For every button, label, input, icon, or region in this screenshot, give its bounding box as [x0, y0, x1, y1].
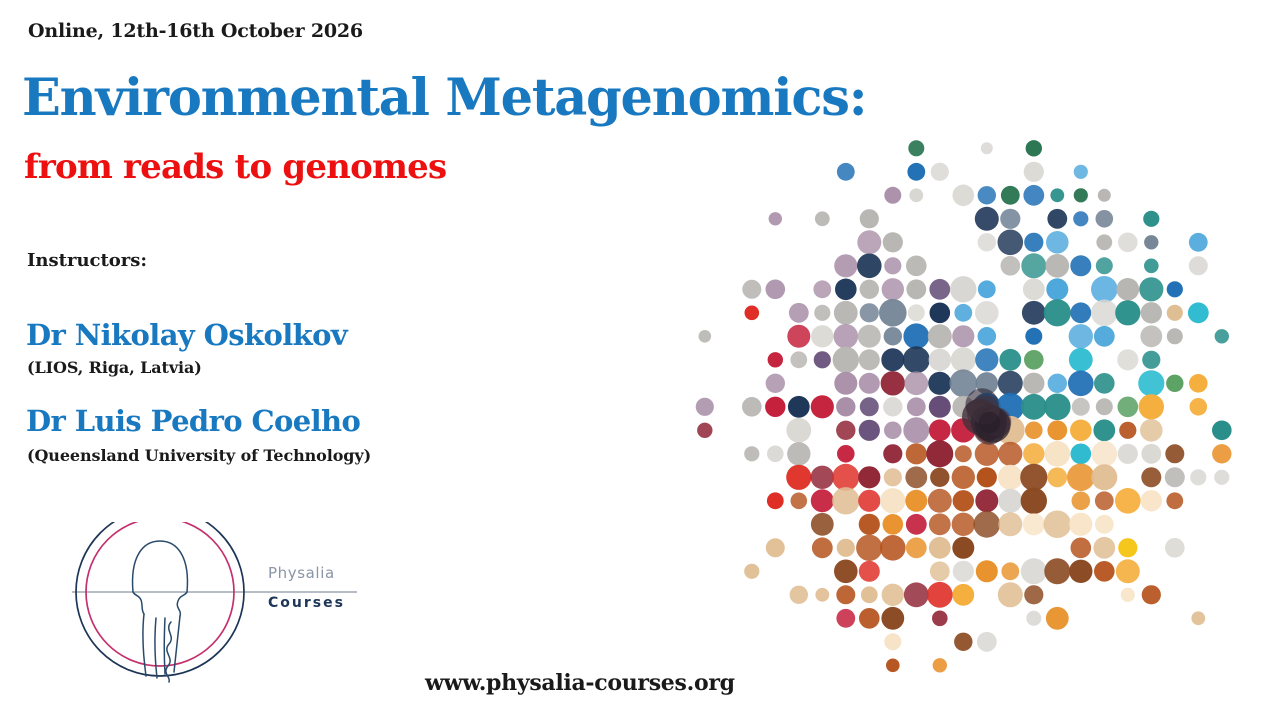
artwork-dot: [1212, 444, 1231, 463]
artwork-dot: [975, 301, 999, 325]
artwork-dot: [884, 422, 902, 440]
logo-outer-ring: [76, 522, 244, 676]
artwork-dot: [1117, 278, 1140, 301]
artwork-dot: [952, 584, 974, 606]
artwork-dot: [1096, 257, 1113, 274]
artwork-dot: [859, 608, 880, 629]
artwork-dot: [789, 303, 809, 323]
artwork-dot: [884, 633, 901, 650]
artwork-dot: [928, 372, 951, 395]
artwork-dot: [745, 306, 760, 321]
artwork-dot: [1070, 302, 1091, 323]
artwork-dot: [1024, 585, 1043, 604]
artwork-dot: [903, 417, 929, 443]
artwork-dot: [1000, 209, 1020, 229]
artwork-dot: [1044, 299, 1071, 326]
artwork-dot: [978, 186, 996, 204]
artwork-dot: [860, 303, 879, 322]
artwork-dot: [880, 488, 905, 513]
artwork-dot: [975, 348, 998, 371]
artwork-dot: [929, 513, 951, 535]
artwork-dot: [859, 420, 880, 441]
artwork-dot: [886, 659, 900, 673]
artwork-dot: [1069, 324, 1093, 348]
artwork-dot: [927, 582, 953, 608]
artwork-dot: [744, 446, 759, 461]
artwork-dot: [811, 395, 834, 418]
instructor-affiliation-2: (Queensland University of Technology): [27, 446, 371, 465]
artwork-dot: [1024, 162, 1044, 182]
course-date-line: Online, 12th-16th October 2026: [28, 20, 363, 42]
artwork-dot: [1166, 375, 1183, 392]
artwork-dot: [953, 490, 974, 511]
artwork-dot: [998, 442, 1022, 466]
artwork-dot: [1212, 421, 1232, 441]
artwork-dot: [837, 445, 855, 463]
artwork-dot: [811, 466, 834, 489]
artwork-dot: [769, 212, 782, 225]
artwork-dot: [1165, 444, 1184, 463]
artwork-dot: [932, 611, 948, 627]
artwork-dot: [790, 351, 807, 368]
artwork-dot: [786, 418, 811, 443]
artwork-dot: [1167, 281, 1183, 297]
artwork-dot: [832, 464, 859, 491]
artwork-dot: [906, 514, 927, 535]
instructor-name-1: Dr Nikolay Oskolkov: [26, 318, 347, 352]
artwork-dot: [975, 207, 999, 231]
logo-subbrand-text: Courses: [268, 595, 345, 611]
artwork-dot: [907, 163, 925, 181]
artwork-dot: [834, 324, 859, 349]
artwork-dot: [1023, 513, 1045, 535]
artwork-dot: [835, 279, 857, 301]
artwork-dot: [903, 346, 930, 373]
artwork-dot: [1141, 444, 1161, 464]
artwork-dot: [1118, 397, 1139, 418]
artwork-dot: [1188, 302, 1209, 323]
artwork-dot: [814, 305, 830, 321]
artwork-dot: [953, 561, 974, 582]
artwork-dot: [1048, 374, 1067, 393]
artwork-dot: [1025, 422, 1043, 440]
artwork-dot: [952, 466, 975, 489]
artwork-dot: [1068, 371, 1094, 397]
artwork-dot: [907, 397, 926, 416]
artwork-dot: [859, 561, 880, 582]
artwork-dot: [908, 304, 925, 321]
artwork-dot: [950, 276, 976, 302]
artwork-dot: [1020, 464, 1047, 491]
artwork-dot: [929, 279, 950, 300]
artwork-dot: [1021, 394, 1047, 420]
artwork-dot: [1165, 467, 1185, 487]
artwork-dot: [881, 371, 905, 395]
artwork-dot: [1021, 488, 1047, 514]
artwork-dot: [884, 257, 901, 274]
artwork-dot: [1095, 515, 1114, 534]
artwork-dot: [742, 397, 762, 417]
artwork-dot: [930, 303, 951, 324]
artwork-dot: [860, 280, 879, 299]
artwork-dot: [860, 209, 879, 228]
artwork-dot: [1044, 511, 1072, 539]
artwork-dot: [1190, 398, 1208, 416]
artwork-dot: [1119, 422, 1136, 439]
artwork-dot: [909, 188, 923, 202]
artwork-dot: [998, 582, 1023, 607]
artwork-dot: [787, 442, 810, 465]
artwork-dot: [1143, 211, 1159, 227]
artwork-dot: [834, 301, 858, 325]
artwork-dot: [742, 280, 761, 299]
artwork-dot: [1166, 492, 1183, 509]
poster-canvas: Online, 12th-16th October 2026 Environme…: [0, 0, 1280, 720]
artwork-dot: [1073, 211, 1088, 226]
artwork-dot: [981, 142, 993, 154]
artwork-dot: [813, 280, 831, 298]
artwork-dot: [1140, 325, 1162, 347]
artwork-dot: [856, 535, 882, 561]
artwork-dot: [951, 347, 976, 372]
artwork-dot: [1023, 373, 1044, 394]
artwork-dot: [1071, 538, 1092, 559]
artwork-dot: [1116, 559, 1140, 583]
artwork-dot: [955, 445, 972, 462]
artwork-dot: [1069, 513, 1092, 536]
artwork-dot: [1093, 537, 1115, 559]
artwork-core-dot: [979, 412, 1001, 434]
artwork-dot: [1190, 469, 1206, 485]
artwork-dot: [1142, 585, 1161, 604]
artwork-dot: [767, 446, 784, 463]
artwork-dot: [998, 489, 1022, 513]
artwork-dot: [1069, 348, 1093, 372]
artwork-dot: [1046, 231, 1069, 254]
artwork-dot: [788, 396, 810, 418]
artwork-dot: [1141, 490, 1162, 511]
artwork-dot: [1024, 233, 1043, 252]
artwork-dot: [815, 211, 830, 226]
artwork-dot: [836, 585, 855, 604]
artwork-dot: [814, 351, 831, 368]
artwork-dot: [883, 514, 904, 535]
artwork-dot: [834, 560, 858, 584]
artwork-dot: [1070, 255, 1091, 276]
artwork-dot: [905, 466, 927, 488]
artwork-dot: [1045, 441, 1071, 467]
artwork-dot: [1044, 394, 1071, 421]
artwork-dot: [787, 325, 810, 348]
artwork-dot: [908, 140, 924, 156]
artwork-dot: [1023, 185, 1044, 206]
artwork-dot: [1047, 467, 1067, 487]
artwork-dot: [790, 586, 808, 604]
artwork-dot: [1046, 278, 1068, 300]
logo-inner-ring: [86, 522, 234, 666]
artwork-dot: [1096, 234, 1112, 250]
artwork-dot: [832, 487, 859, 514]
artwork-dot: [836, 397, 855, 416]
artwork-dot: [952, 537, 974, 559]
artwork-dot: [1001, 186, 1020, 205]
artwork-dot: [1098, 189, 1111, 202]
artwork-dot: [978, 327, 997, 346]
artwork-dot: [1074, 188, 1088, 202]
artwork-dot: [1141, 302, 1162, 323]
artwork-dot: [857, 254, 882, 279]
artwork-dot: [933, 658, 947, 672]
artwork-dot: [926, 440, 953, 467]
artwork-dot: [836, 421, 855, 440]
artwork-dot: [699, 330, 712, 343]
artwork-dot: [1022, 301, 1046, 325]
artwork-dot: [1001, 562, 1019, 580]
artwork-dot: [977, 632, 997, 652]
artwork-dot: [1191, 611, 1205, 625]
artwork-dot: [1001, 256, 1021, 276]
artwork-dot: [696, 398, 714, 416]
artwork-dot: [768, 352, 783, 367]
artwork-dot: [811, 513, 834, 536]
artwork-dot: [1026, 140, 1042, 156]
artwork-dot: [904, 582, 929, 607]
artwork-dot: [1094, 326, 1115, 347]
artwork-dot: [929, 349, 951, 371]
artwork-dot: [861, 586, 878, 603]
artwork-dot: [834, 254, 857, 277]
artwork-dot: [1070, 420, 1092, 442]
artwork-dot: [882, 278, 904, 300]
artwork-dot: [1091, 441, 1117, 467]
artwork-dot: [1044, 558, 1070, 584]
artwork-dot: [697, 423, 712, 438]
artwork-dot: [791, 493, 808, 510]
artwork-dot: [929, 419, 951, 441]
artwork-dot: [973, 511, 1000, 538]
artwork-dot: [859, 514, 880, 535]
artwork-dot: [1023, 278, 1045, 300]
artwork-dot: [1046, 607, 1069, 630]
artwork-dot: [952, 513, 975, 536]
artwork-dot: [998, 230, 1024, 256]
artwork-dot: [906, 443, 927, 464]
artwork-dot: [744, 564, 759, 579]
artwork-dot: [954, 633, 972, 651]
artwork-dot: [1138, 370, 1164, 396]
artwork-dot: [1074, 165, 1088, 179]
artwork-dot: [1144, 235, 1158, 249]
artwork-dot: [1071, 444, 1092, 465]
artwork-dot: [860, 397, 879, 416]
artwork-dot: [906, 279, 926, 299]
artwork-dot: [929, 396, 951, 418]
artwork-dot: [833, 347, 859, 373]
artwork-dot: [1094, 373, 1115, 394]
artwork-dot: [1096, 398, 1113, 415]
artwork-dot: [883, 232, 903, 252]
artwork-dot: [1214, 470, 1229, 485]
artwork-dot: [1144, 259, 1159, 274]
artwork-dot: [928, 324, 952, 348]
artwork-dot: [1215, 329, 1229, 343]
artwork-dot: [881, 348, 904, 371]
artwork-dot: [837, 539, 855, 557]
artwork-dot: [815, 588, 829, 602]
artwork-dot: [976, 560, 998, 582]
artwork-dot: [906, 537, 927, 558]
artwork-dot: [930, 468, 949, 487]
artwork-dot: [767, 492, 784, 509]
artwork-dot: [978, 233, 996, 251]
artwork-dot: [977, 467, 997, 487]
artwork-dot: [1140, 419, 1163, 442]
artwork-dot: [765, 397, 785, 417]
instructor-affiliation-1: (LIOS, Riga, Latvia): [27, 358, 202, 377]
artwork-dot: [930, 561, 950, 581]
artwork-dot: [1115, 300, 1140, 325]
artwork-dot: [906, 256, 927, 277]
artwork-dot: [999, 349, 1021, 371]
artwork-dot: [884, 327, 902, 345]
artwork-dot: [952, 325, 974, 347]
artwork-dot: [1072, 398, 1090, 416]
artwork-dot: [858, 325, 881, 348]
artwork-dot: [1189, 256, 1208, 275]
artwork-dot: [881, 607, 904, 630]
artwork-dot: [882, 584, 904, 606]
artwork-dot: [812, 537, 833, 558]
radial-dot-artwork: [690, 110, 1250, 720]
artwork-dot: [766, 280, 786, 300]
artwork-dot: [766, 374, 785, 393]
artwork-dot: [1189, 233, 1208, 252]
artwork-dot: [1091, 300, 1118, 327]
page-subtitle: from reads to genomes: [24, 147, 446, 187]
artwork-dot: [811, 325, 833, 347]
artwork-dot: [879, 299, 907, 327]
instructors-label: Instructors:: [27, 250, 147, 271]
artwork-dot: [834, 372, 857, 395]
physalia-logo: Physalia Courses: [72, 522, 362, 692]
artwork-dot: [1072, 492, 1091, 511]
dot-burst-svg: [690, 110, 1250, 720]
artwork-dot: [786, 465, 811, 490]
artwork-dot: [1091, 276, 1118, 303]
artwork-dot: [1093, 419, 1115, 441]
logo-brand-text: Physalia: [268, 564, 335, 582]
artwork-dot: [978, 280, 996, 298]
artwork-dot: [903, 323, 929, 349]
instructor-name-2: Dr Luis Pedro Coelho: [26, 404, 360, 438]
artwork-dot: [1139, 277, 1163, 301]
artwork-dot: [811, 489, 834, 512]
artwork-dot: [998, 465, 1023, 490]
artwork-dot: [1165, 538, 1185, 558]
artwork-dot: [904, 371, 928, 395]
artwork-dot: [1069, 560, 1092, 583]
artwork-dot: [1141, 467, 1161, 487]
artwork-dot: [975, 489, 998, 512]
artwork-dot: [880, 535, 906, 561]
artwork-dot: [1094, 561, 1115, 582]
artwork-dot: [1021, 253, 1046, 278]
artwork-dot: [859, 373, 880, 394]
artwork-dot: [1050, 188, 1064, 202]
website-url: www.physalia-courses.org: [425, 670, 735, 696]
artwork-dot: [1189, 374, 1208, 393]
artwork-dot: [929, 537, 951, 559]
artwork-dot: [857, 230, 881, 254]
artwork-dot: [1167, 305, 1183, 321]
artwork-dot: [1139, 394, 1164, 419]
artwork-dot: [858, 490, 880, 512]
artwork-dot: [1046, 254, 1070, 278]
artwork-dot: [1025, 328, 1042, 345]
artwork-dot: [1121, 588, 1135, 602]
artwork-dot: [1142, 351, 1160, 369]
jellyfish-icon: [133, 541, 188, 682]
artwork-dot: [836, 609, 855, 628]
artwork-dot: [1067, 464, 1095, 492]
artwork-dot: [1096, 210, 1114, 228]
artwork-dot: [1091, 464, 1117, 490]
artwork-dot: [1118, 444, 1138, 464]
artwork-dot: [859, 349, 880, 370]
artwork-dot: [998, 512, 1022, 536]
artwork-dot: [1117, 349, 1138, 370]
artwork-dot: [883, 444, 902, 463]
artwork-dot: [766, 538, 785, 557]
artwork-dot: [953, 185, 975, 207]
artwork-dot: [1026, 611, 1041, 626]
artwork-dot: [1047, 209, 1067, 229]
artwork-dot: [931, 163, 949, 181]
artwork-dot: [954, 304, 972, 322]
artwork-dot: [998, 371, 1023, 396]
artwork-dot: [1023, 443, 1044, 464]
artwork-dot: [1095, 491, 1114, 510]
artwork-dot: [975, 442, 999, 466]
artwork-dot: [884, 187, 901, 204]
artwork-dot: [1047, 420, 1067, 440]
artwork-dot: [928, 489, 952, 513]
artwork-dot: [1118, 233, 1138, 253]
artwork-dot: [1118, 538, 1137, 557]
artwork-dot: [883, 397, 902, 416]
artwork-dot: [884, 468, 902, 486]
artwork-dot: [1024, 350, 1044, 370]
artwork-dot: [905, 490, 927, 512]
artwork-dot: [837, 163, 855, 181]
artwork-dot: [1021, 558, 1047, 584]
artwork-dot: [858, 466, 880, 488]
artwork-dot: [1115, 488, 1141, 514]
artwork-dot: [1167, 328, 1183, 344]
